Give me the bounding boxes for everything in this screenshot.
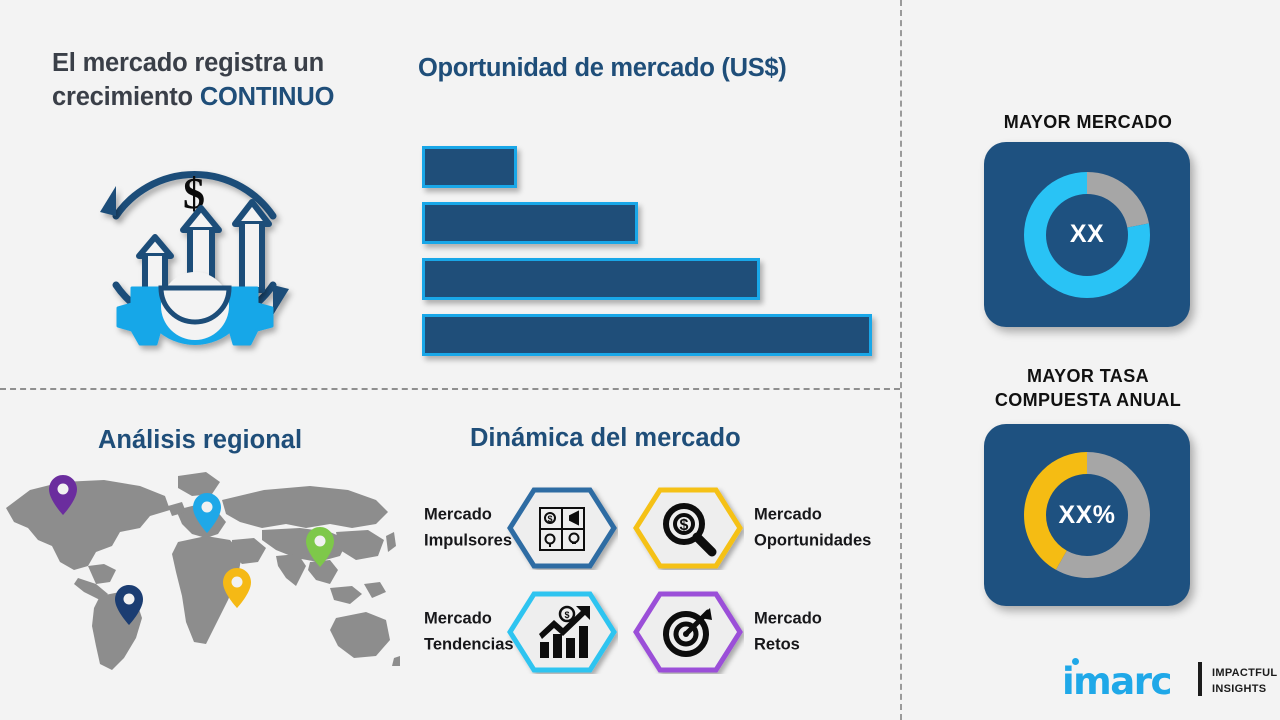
pin-north-america <box>48 474 78 516</box>
imarc-logo-dot <box>1072 658 1079 665</box>
bar-1 <box>422 146 517 188</box>
svg-text:$: $ <box>680 517 689 534</box>
dynamics-title: Dinámica del mercado <box>470 424 870 453</box>
bar-4 <box>422 314 872 356</box>
infographic-canvas: El mercado registra un crecimiento CONTI… <box>0 0 1280 720</box>
bar-2 <box>422 202 638 244</box>
market-trends-hex: $ <box>506 590 618 674</box>
pin-middle-east <box>222 567 252 609</box>
highest-cagr-donut <box>1017 445 1157 585</box>
market-opportunities-label: Mercado Oportunidades <box>754 502 894 553</box>
growth-headline-line2: crecimiento <box>52 83 200 111</box>
imarc-wordmark: imarc <box>1062 660 1171 703</box>
highest-cagr-title: MAYOR TASA COMPUESTA ANUAL <box>958 364 1218 413</box>
growth-gear-arrows-icon: $ <box>82 138 307 363</box>
world-map <box>0 466 400 682</box>
svg-text:$: $ <box>547 514 552 524</box>
largest-market-title: MAYOR MERCADO <box>958 110 1218 134</box>
growth-headline-accent: CONTINUO <box>200 83 334 111</box>
imarc-tagline: IMPACTFUL INSIGHTS <box>1212 666 1277 698</box>
regional-title: Análisis regional <box>98 426 398 455</box>
bar-3 <box>422 258 760 300</box>
pin-south-america <box>114 584 144 626</box>
opportunity-title: Oportunidad de mercado (US$) <box>418 54 888 83</box>
pin-asia <box>305 526 335 568</box>
largest-market-donut <box>1017 165 1157 305</box>
imarc-logo: imarc IMPACTFUL INSIGHTS <box>1062 658 1272 706</box>
market-opportunities-hex: $ <box>632 486 744 570</box>
pin-europe <box>192 492 222 534</box>
opportunity-bar-chart <box>418 146 888 358</box>
largest-market-card: XX <box>984 142 1190 327</box>
horizontal-divider <box>0 388 900 390</box>
market-challenges[interactable]: Mercado Retos <box>632 590 872 674</box>
market-challenges-hex <box>632 590 744 674</box>
svg-text:$: $ <box>564 610 569 620</box>
imarc-logo-separator <box>1198 662 1202 696</box>
market-challenges-label: Mercado Retos <box>754 606 894 657</box>
vertical-divider <box>900 0 902 720</box>
market-drivers-hex: $ <box>506 486 618 570</box>
market-opportunities[interactable]: Mercado Oportunidades $ <box>632 486 872 570</box>
highest-cagr-card: XX% <box>984 424 1190 606</box>
growth-headline-line1: El mercado registra un <box>52 49 324 77</box>
growth-headline: El mercado registra un crecimiento CONTI… <box>52 46 402 115</box>
